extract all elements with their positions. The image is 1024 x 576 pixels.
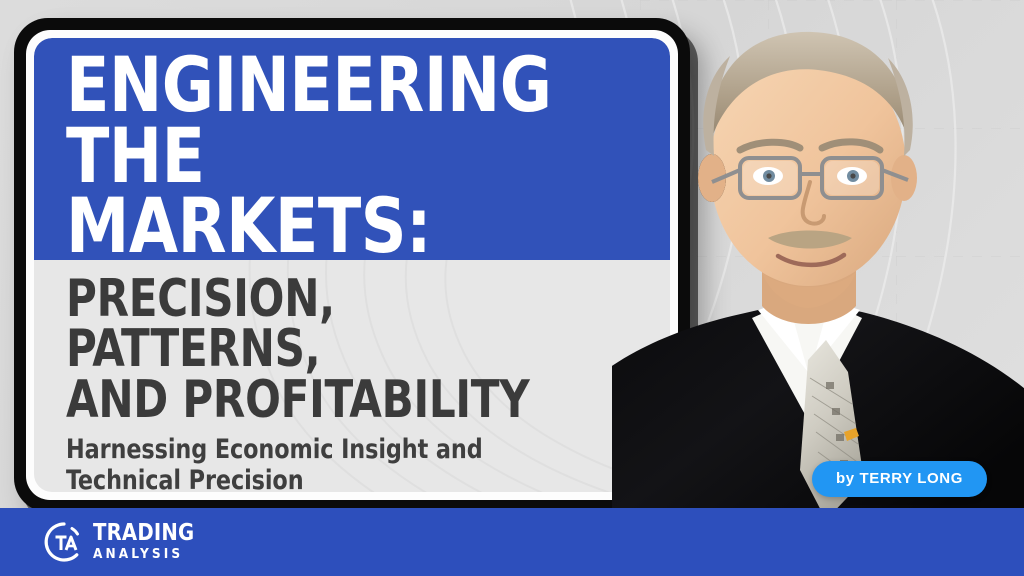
slide-subtitle-block: PRECISION, PATTERNS, AND PROFITABILITY H…: [66, 274, 652, 492]
slide-tagline: Harnessing Economic Insight and Technica…: [66, 435, 605, 492]
tablet-device-frame: ENGINEERING THE MARKETS: PRECISION, PATT…: [14, 18, 690, 512]
presenter-portrait-photo: [612, 0, 1024, 520]
brand-name-line2: ANALYSIS: [93, 548, 200, 562]
brand-name-line1: TRADING: [93, 522, 194, 545]
slide-canvas: ENGINEERING THE MARKETS: PRECISION, PATT…: [0, 0, 1024, 576]
slide-content-page: ENGINEERING THE MARKETS: PRECISION, PATT…: [34, 38, 670, 492]
slide-headline: ENGINEERING THE MARKETS:: [66, 50, 609, 262]
tablet-screen: ENGINEERING THE MARKETS: PRECISION, PATT…: [26, 30, 678, 500]
author-badge[interactable]: by TERRY LONG: [812, 461, 987, 497]
brand-logo-text: TRADING ANALYSIS: [93, 522, 200, 562]
ta-monogram-circle-icon: [42, 520, 86, 564]
brand-logo[interactable]: TRADING ANALYSIS: [42, 520, 200, 564]
slide-subtitle: PRECISION, PATTERNS, AND PROFITABILITY: [66, 274, 593, 425]
bottom-brand-banner: TRADING ANALYSIS: [0, 508, 1024, 576]
